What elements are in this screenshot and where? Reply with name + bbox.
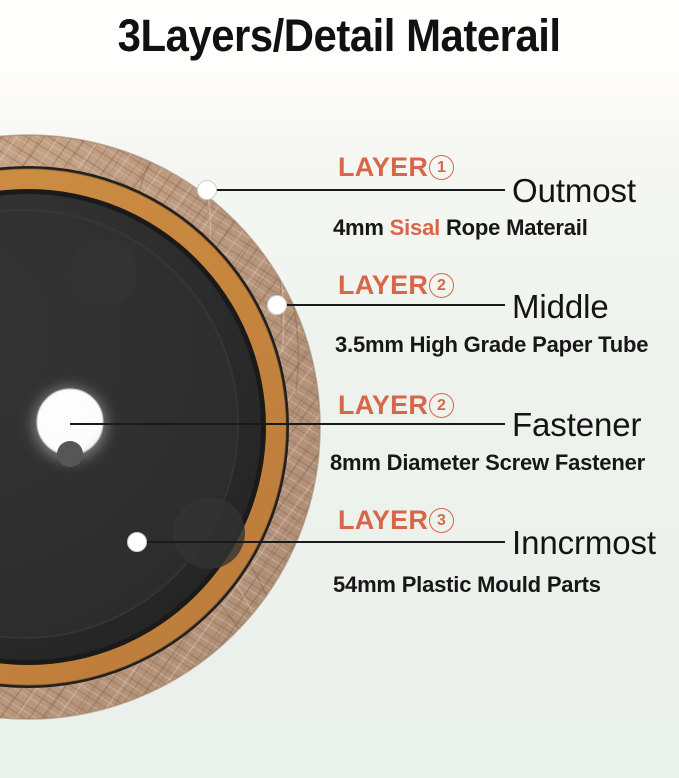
desc-suffix-1: Rope Materail [440, 215, 588, 240]
layer-tag-1-number: 1 [429, 155, 454, 180]
layer-tag-3: LAYER2 [338, 390, 454, 421]
layer-tag-3-label: LAYER [338, 390, 428, 421]
callout-desc-middle: 3.5mm High Grade Paper Tube [335, 332, 648, 358]
desc-suffix-2: 3.5mm High Grade Paper Tube [335, 332, 648, 357]
layer-tag-4: LAYER3 [338, 505, 454, 536]
title-bar: 3Layers/Detail Materail [0, 0, 679, 72]
layer-tag-4-number: 3 [429, 508, 454, 533]
infographic-root: 3Layers/Detail Materail [0, 0, 679, 778]
callout-desc-fastener: 8mm Diameter Screw Fastener [330, 450, 645, 476]
layer-tag-1: LAYER1 [338, 152, 454, 183]
desc-suffix-4: 54mm Plastic Mould Parts [333, 572, 601, 597]
anchor-dot-middle [268, 296, 287, 315]
screw-fastener-dot [57, 441, 83, 467]
mould-boss-bottom [173, 497, 245, 569]
layer-tag-2-label: LAYER [338, 270, 428, 301]
anchor-dot-innermost [128, 533, 147, 552]
callout-name-middle: Middle [512, 288, 609, 326]
page-title: 3Layers/Detail Materail [118, 10, 561, 62]
layer-tag-2-number: 2 [429, 273, 454, 298]
callout-desc-innermost: 54mm Plastic Mould Parts [333, 572, 601, 598]
layer-tag-4-label: LAYER [338, 505, 428, 536]
layer-tag-1-label: LAYER [338, 152, 428, 183]
mould-boss-top [69, 239, 137, 307]
callout-desc-outmost: 4mm Sisal Rope Materail [333, 215, 588, 241]
callout-name-fastener: Fastener [512, 406, 641, 444]
desc-suffix-3: 8mm Diameter Screw Fastener [330, 450, 645, 475]
desc-highlight-1: Sisal [390, 215, 440, 240]
anchor-dot-outmost [198, 181, 217, 200]
layer-tag-2: LAYER2 [338, 270, 454, 301]
desc-prefix-1: 4mm [333, 215, 390, 240]
layer-tag-3-number: 2 [429, 393, 454, 418]
callout-name-innermost: Inncrmost [512, 524, 656, 562]
callout-name-outmost: Outmost [512, 172, 636, 210]
